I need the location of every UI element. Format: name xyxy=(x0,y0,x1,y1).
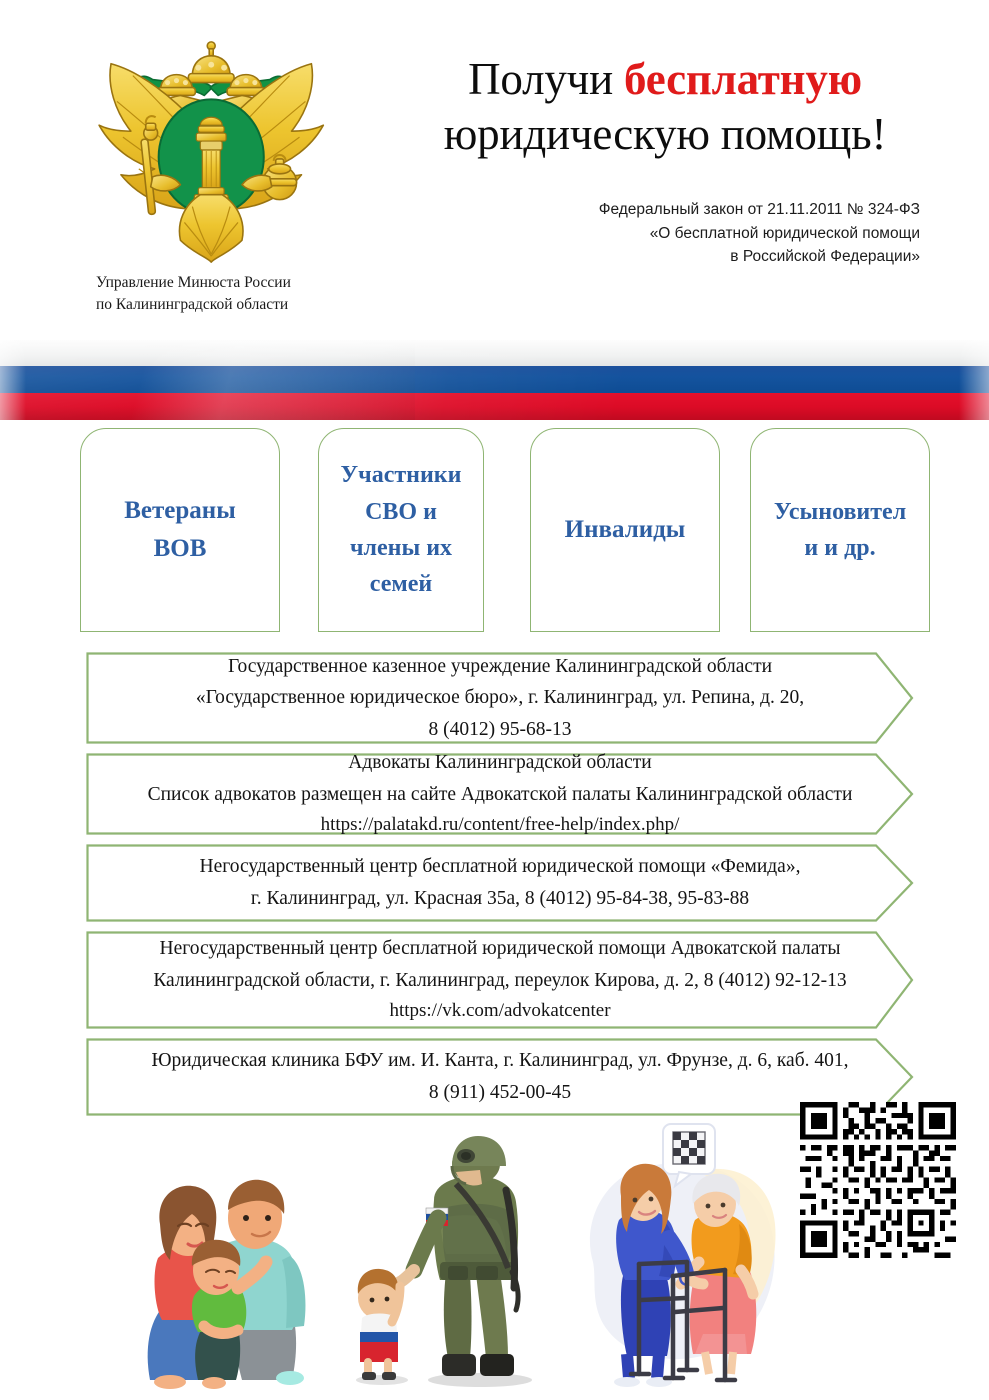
provider-4-url[interactable]: https://vk.com/advokatcenter xyxy=(130,996,870,1027)
title-accent-part: бесплатную xyxy=(624,54,862,104)
ministry-department-label: Управление Минюста России по Калининград… xyxy=(96,272,416,317)
category-svo-line3: члены их xyxy=(350,535,452,561)
category-label-disabled: Инвалиды xyxy=(557,511,694,549)
category-box-svo-participants[interactable]: Участники СВО и члены их семей xyxy=(318,428,484,632)
category-label-adopters: Усыновител и и др. xyxy=(766,494,914,567)
providers-list: Государственное казенное учреждение Кали… xyxy=(0,652,989,1125)
ministry-of-justice-emblem-icon xyxy=(88,28,388,276)
category-adopters-line1: Усыновител xyxy=(774,499,906,525)
provider-4-line1: Негосударственный центр бесплатной юриди… xyxy=(130,933,870,965)
category-label-svo: Участники СВО и члены их семей xyxy=(333,457,470,603)
provider-3-line1: Негосударственный центр бесплатной юриди… xyxy=(130,851,870,883)
category-svo-line4: семей xyxy=(370,571,432,597)
provider-1-line1: Государственное казенное учреждение Кали… xyxy=(130,651,870,683)
flag-edge-fade-left xyxy=(0,340,26,420)
category-svo-line2: СВО и xyxy=(365,499,437,525)
title-plain-part: Получи xyxy=(468,54,624,104)
page-title: Получи бесплатную юридическую помощь! xyxy=(370,52,930,162)
eligible-categories-group: Ветераны ВОВ Участники СВО и члены их се… xyxy=(0,428,989,638)
category-veterans-line2: ВОВ xyxy=(154,535,207,562)
law-line-1: Федеральный закон от 21.11.2011 № 324-ФЗ xyxy=(470,198,920,222)
provider-banner-state-legal-bureau[interactable]: Государственное казенное учреждение Кали… xyxy=(86,652,914,744)
provider-4-line2: Калининградской области, г. Калининград,… xyxy=(130,965,870,997)
provider-text-4: Негосударственный центр бесплатной юриди… xyxy=(130,923,870,1037)
ministry-label-line2: по Калининградской области xyxy=(96,294,416,316)
law-line-2: «О бесплатной юридической помощи xyxy=(470,222,920,246)
category-label-veterans: Ветераны ВОВ xyxy=(116,492,243,568)
provider-2-line1: Адвокаты Калининградской области xyxy=(130,747,870,779)
category-adopters-line2: и и др. xyxy=(804,535,875,561)
russian-flag-band xyxy=(0,340,989,420)
provider-banner-bfu-legal-clinic[interactable]: Юридическая клиника БФУ им. И. Канта, г.… xyxy=(86,1038,914,1116)
category-svo-line1: Участники xyxy=(341,462,462,488)
category-veterans-line1: Ветераны xyxy=(124,497,235,524)
flag-stripe-white xyxy=(0,340,989,366)
provider-2-line2: Список адвокатов размещен на сайте Адвок… xyxy=(130,779,870,811)
poster-header: Управление Минюста России по Калининград… xyxy=(0,0,989,332)
provider-banner-advocates[interactable]: Адвокаты Калининградской области Список … xyxy=(86,753,914,835)
ministry-label-line1: Управление Минюста России xyxy=(96,272,416,294)
category-box-veterans[interactable]: Ветераны ВОВ xyxy=(80,428,280,632)
provider-text-5: Юридическая клиника БФУ им. И. Канта, г.… xyxy=(130,1035,870,1118)
title-line-2: юридическую помощь! xyxy=(370,107,930,162)
flag-stripe-blue xyxy=(0,366,989,393)
category-box-disabled[interactable]: Инвалиды xyxy=(530,428,720,632)
provider-3-line2: г. Калининград, ул. Красная 35а, 8 (4012… xyxy=(130,883,870,915)
provider-1-line2: «Государственное юридическое бюро», г. К… xyxy=(130,682,870,714)
provider-5-line1: Юридическая клиника БФУ им. И. Канта, г.… xyxy=(130,1045,870,1077)
law-line-3: в Российской Федерации» xyxy=(470,245,920,269)
qr-code[interactable] xyxy=(800,1102,956,1258)
provider-2-url[interactable]: https://palatakd.ru/content/free-help/in… xyxy=(130,810,870,841)
category-box-adopters[interactable]: Усыновител и и др. xyxy=(750,428,930,632)
category-disabled-line1: Инвалиды xyxy=(565,516,686,543)
provider-text-2: Адвокаты Калининградской области Список … xyxy=(130,737,870,851)
provider-banner-advocate-chamber-center[interactable]: Негосударственный центр бесплатной юриди… xyxy=(86,931,914,1029)
provider-text-3: Негосударственный центр бесплатной юриди… xyxy=(130,841,870,924)
poster-root: Управление Минюста России по Калининград… xyxy=(0,0,989,1400)
provider-5-phone: 8 (911) 452-00-45 xyxy=(130,1077,870,1109)
soldier-and-child-illustration xyxy=(330,1122,565,1394)
family-illustration xyxy=(92,1130,342,1390)
caregiver-and-elderly-woman-illustration xyxy=(575,1112,810,1392)
flag-edge-fade-right xyxy=(959,340,989,420)
flag-stripe-red xyxy=(0,393,989,420)
provider-banner-femida[interactable]: Негосударственный центр бесплатной юриди… xyxy=(86,844,914,922)
federal-law-reference: Федеральный закон от 21.11.2011 № 324-ФЗ… xyxy=(470,198,920,269)
title-line-1: Получи бесплатную xyxy=(370,52,930,107)
